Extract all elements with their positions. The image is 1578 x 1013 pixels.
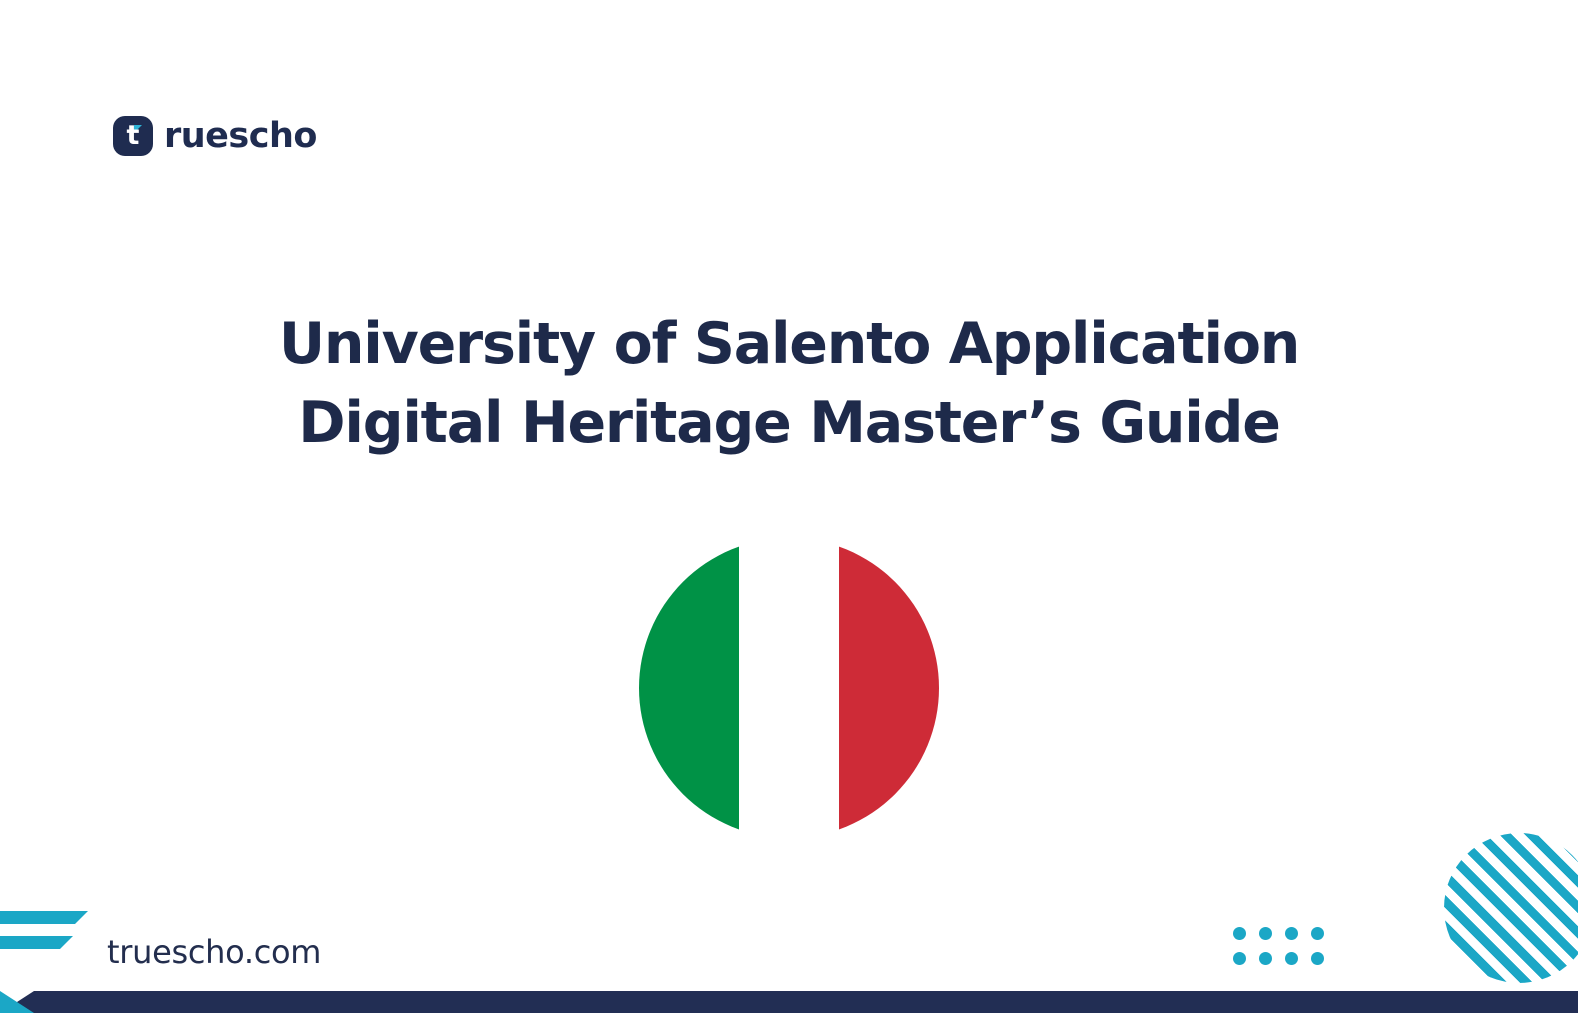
brand-wordmark: ruescho	[164, 119, 317, 154]
dot	[1311, 927, 1324, 940]
dot	[1233, 952, 1246, 965]
dot	[1285, 927, 1298, 940]
dot	[1259, 927, 1272, 940]
truescho-logo-icon: t	[113, 116, 153, 156]
decorative-striped-circle	[1444, 833, 1578, 983]
italy-flag-illustration	[639, 538, 939, 838]
dot	[1311, 952, 1324, 965]
dot	[1259, 952, 1272, 965]
footer-bottom-bar	[0, 991, 1578, 1013]
flag-circle-icon	[639, 538, 939, 838]
footer-website-url[interactable]: truescho.com	[107, 936, 321, 968]
decorative-dot-grid	[1233, 927, 1324, 965]
footer-accent-bar-bottom	[0, 936, 73, 949]
footer-accent-bar-top	[0, 911, 88, 924]
flag-band-white	[739, 538, 839, 838]
logo-letter-t: t	[113, 116, 153, 156]
slide-canvas: t ruescho University of Salento Applicat…	[0, 0, 1578, 1013]
dot	[1285, 952, 1298, 965]
page-title: University of Salento Application Digita…	[0, 305, 1578, 462]
brand-logo[interactable]: t ruescho	[113, 116, 317, 156]
flag-band-green	[639, 538, 739, 838]
dot	[1233, 927, 1246, 940]
footer-accent-bars	[0, 911, 100, 955]
flag-band-red	[839, 538, 939, 838]
